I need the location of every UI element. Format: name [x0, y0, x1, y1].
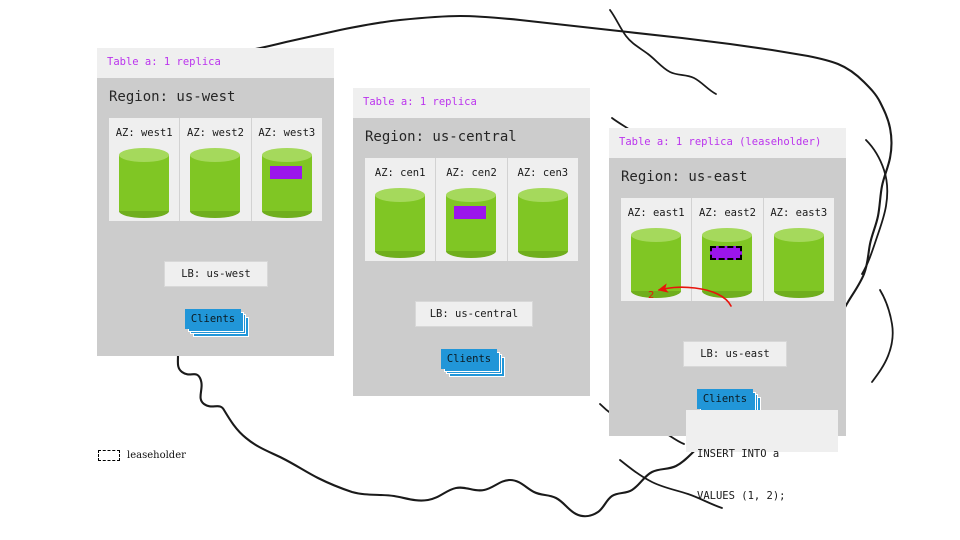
routing-arrow-step-2	[0, 0, 960, 540]
arrow-step-label: 2	[648, 290, 654, 301]
diagram-canvas: leaseholder Table a: 1 replica Region: u…	[0, 0, 960, 540]
